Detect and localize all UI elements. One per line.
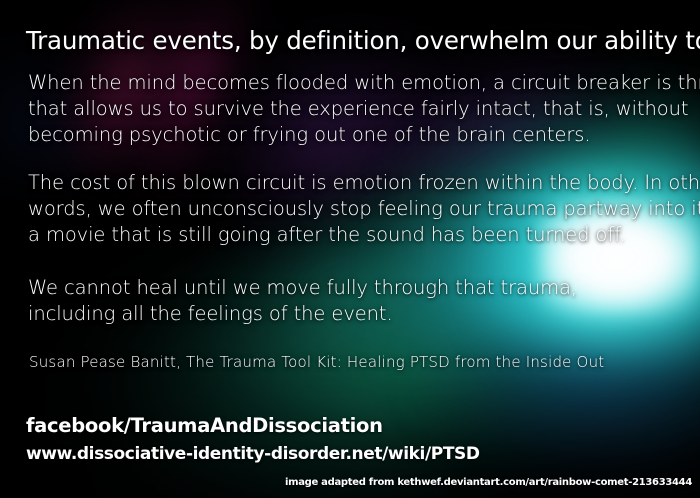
quote-paragraph-2: The cost of this blown circuit is emotio…	[28, 170, 700, 248]
quote-paragraph-1: When the mind becomes flooded with emoti…	[28, 70, 700, 148]
footer-website-url[interactable]: www.dissociative-identity-disorder.net/w…	[26, 444, 480, 464]
footer-facebook-handle[interactable]: facebook/TraumaAndDissociation	[26, 414, 383, 437]
text-content: Traumatic events, by definition, overwhe…	[0, 0, 700, 498]
quote-paragraph-3: We cannot heal until we move fully throu…	[28, 275, 577, 327]
quote-poster: Traumatic events, by definition, overwhe…	[0, 0, 700, 498]
page-title: Traumatic events, by definition, overwhe…	[26, 26, 700, 56]
image-credit: image adapted from kethwef.deviantart.co…	[285, 477, 692, 488]
quote-attribution: Susan Pease Banitt, The Trauma Tool Kit:…	[29, 352, 604, 372]
